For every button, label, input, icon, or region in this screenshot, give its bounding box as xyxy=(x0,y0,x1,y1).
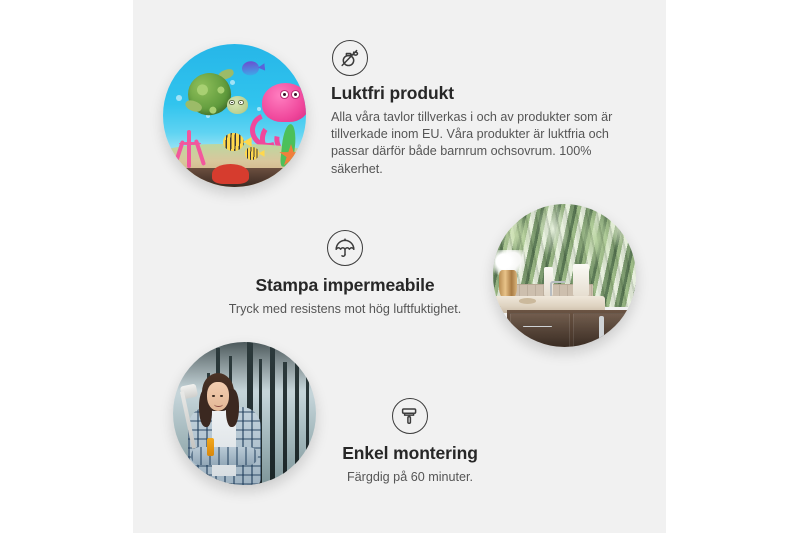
bubble-icon xyxy=(176,95,182,101)
feature-waterproof: Stampa impermeabile Tryck med resistens … xyxy=(205,230,485,318)
umbrella-icon xyxy=(327,230,363,266)
turtle-icon xyxy=(186,73,246,124)
underwater-artwork xyxy=(163,44,306,187)
feature-body: Färgdig på 60 minuter. xyxy=(300,469,520,486)
paint-roller-icon xyxy=(392,398,428,434)
feature-odour-free: Luktfri produkt Alla våra tavlor tillver… xyxy=(331,40,623,178)
no-odour-spray-bottle-icon xyxy=(332,40,368,76)
feature-easy-mounting: Enkel montering Färgdig på 60 minuter. xyxy=(300,398,520,486)
feature-title: Stampa impermeabile xyxy=(205,275,485,296)
bathroom-photo xyxy=(493,204,636,347)
feature-body: Tryck med resistens mot hög luftfuktighe… xyxy=(205,301,485,318)
bottle xyxy=(573,264,589,295)
crab-icon xyxy=(212,164,249,184)
product-image-bathroom[interactable] xyxy=(493,204,636,347)
product-image-underwater[interactable] xyxy=(163,44,306,187)
coral-icon xyxy=(172,130,209,170)
feature-title: Enkel montering xyxy=(300,443,520,464)
door-handle xyxy=(599,316,604,340)
paint-roller-grip xyxy=(207,438,214,456)
vanity-cabinet xyxy=(507,310,636,347)
feature-body: Alla våra tavlor tillverkas i och av pro… xyxy=(331,109,623,178)
octopus-icon xyxy=(249,83,306,152)
screenshot-stage: Luktfri produkt Alla våra tavlor tillver… xyxy=(0,0,800,533)
painter-photo xyxy=(173,342,316,485)
small-fish-icon xyxy=(245,147,265,160)
feature-title: Luktfri produkt xyxy=(331,83,623,104)
product-image-painter[interactable] xyxy=(173,342,316,485)
woman-figure xyxy=(184,373,264,485)
